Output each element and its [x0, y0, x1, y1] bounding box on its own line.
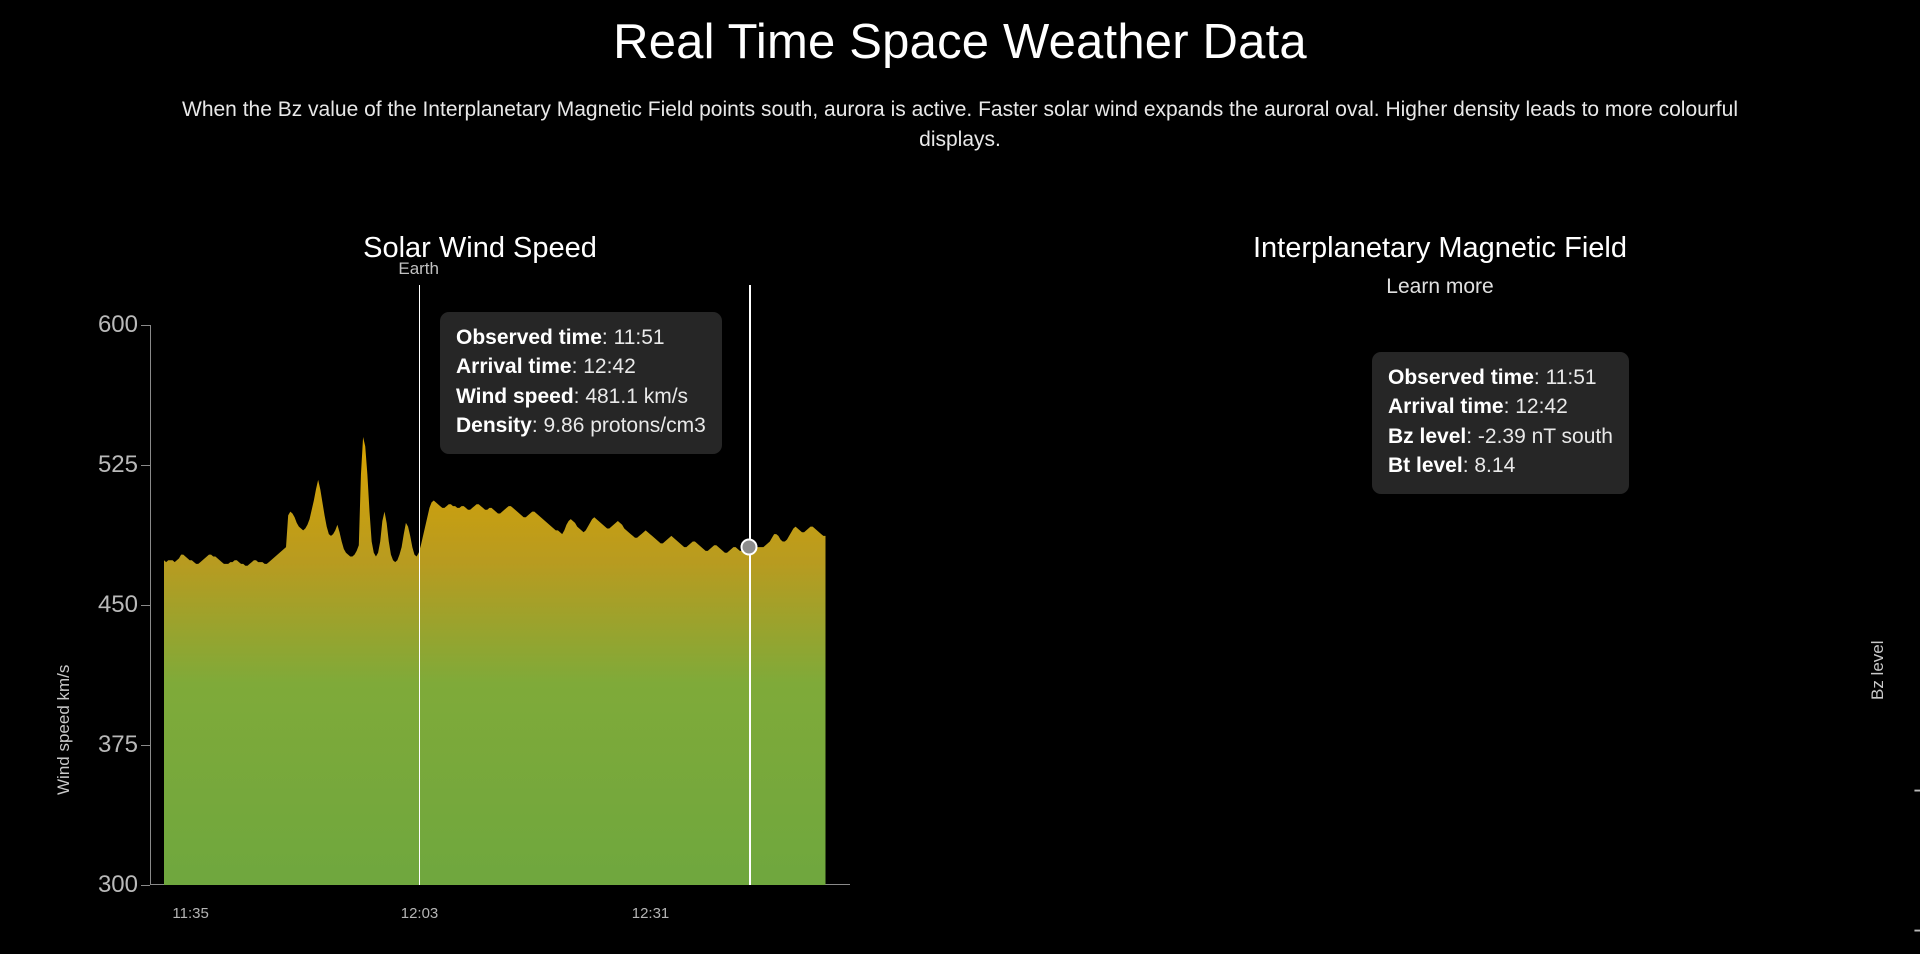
tooltip-observed-time-key: Observed time: [456, 326, 602, 349]
tooltip-density-key: Density: [456, 414, 532, 437]
solar-wind-x-tick: 11:35: [172, 905, 208, 922]
space-weather-dashboard: Real Time Space Weather Data When the Bz…: [0, 0, 1920, 954]
solar-wind-y-axis-label: Wind speed km/s: [54, 665, 74, 795]
imf-tooltip: Observed time: 11:51 Arrival time: 12:42…: [1372, 352, 1629, 494]
solar-wind-y-tick: 600: [98, 311, 150, 339]
solar-wind-tooltip: Observed time: 11:51 Arrival time: 12:42…: [440, 312, 722, 454]
solar-wind-x-tick: 12:31: [632, 905, 670, 922]
solar-wind-y-tick-dash: [141, 325, 150, 326]
imf-tooltip-observed-time-key: Observed time: [1388, 366, 1534, 389]
tooltip-wind-speed-key: Wind speed: [456, 385, 574, 408]
tooltip-observed-time-value: 11:51: [614, 326, 665, 349]
solar-wind-y-tick-dash: [141, 605, 150, 606]
solar-wind-y-tick: 300: [98, 871, 150, 899]
imf-tooltip-arrival-time-value: 12:42: [1515, 395, 1568, 418]
imf-tooltip-observed-time-row: Observed time: 11:51: [1388, 363, 1613, 392]
page-header: Real Time Space Weather Data When the Bz…: [0, 0, 1920, 154]
tooltip-arrival-time-value: 12:42: [583, 355, 636, 378]
solar-wind-y-tick: 450: [98, 591, 150, 619]
solar-wind-earth-label: Earth: [398, 259, 439, 279]
tooltip-observed-time-row: Observed time: 11:51: [456, 323, 706, 352]
imf-tooltip-bz-level-row: Bz level: -2.39 nT south: [1388, 422, 1613, 451]
imf-chart-title: Interplanetary Magnetic Field: [960, 230, 1920, 266]
charts-row: Solar Wind Speed Wind speed km/s 3003754…: [0, 230, 1920, 299]
tooltip-arrival-time-row: Arrival time: 12:42: [456, 352, 706, 381]
solar-wind-marker-line: [749, 285, 751, 885]
imf-tooltip-arrival-time-key: Arrival time: [1388, 395, 1504, 418]
tooltip-density-row: Density: 9.86 protons/cm3: [456, 411, 706, 440]
tooltip-wind-speed-value: 481.1 km/s: [585, 385, 688, 408]
page-title: Real Time Space Weather Data: [0, 14, 1920, 72]
imf-y-tick: -20: [1913, 916, 1920, 944]
imf-y-tick: -10: [1913, 776, 1920, 804]
solar-wind-chart-title: Solar Wind Speed: [0, 230, 960, 266]
imf-tooltip-observed-time-value: 11:51: [1546, 366, 1597, 389]
imf-tooltip-arrival-time-row: Arrival time: 12:42: [1388, 392, 1613, 421]
imf-y-axis-label: Bz level: [1868, 640, 1888, 700]
solar-wind-y-tick: 525: [98, 451, 150, 479]
imf-tooltip-bz-level-value: -2.39 nT south: [1478, 425, 1613, 448]
page-subtitle: When the Bz value of the Interplanetary …: [150, 95, 1770, 155]
solar-wind-y-tick-dash: [141, 745, 150, 746]
imf-tooltip-bt-level-value: 8.14: [1474, 454, 1515, 477]
solar-wind-speed-panel: Solar Wind Speed Wind speed km/s 3003754…: [0, 230, 960, 299]
tooltip-density-value: 9.86 protons/cm3: [544, 414, 706, 437]
solar-wind-area-path: [164, 437, 826, 885]
tooltip-wind-speed-row: Wind speed: 481.1 km/s: [456, 382, 706, 411]
imf-learn-more-link[interactable]: Learn more: [960, 275, 1920, 299]
solar-wind-selected-datapoint[interactable]: [741, 538, 758, 555]
imf-tooltip-bt-level-row: Bt level: 8.14: [1388, 451, 1613, 480]
solar-wind-y-tick-dash: [141, 885, 150, 886]
imf-tooltip-bz-level-key: Bz level: [1388, 425, 1466, 448]
solar-wind-marker-line: [419, 285, 421, 885]
imf-tooltip-bt-level-key: Bt level: [1388, 454, 1463, 477]
solar-wind-y-tick: 375: [98, 731, 150, 759]
imf-panel: Interplanetary Magnetic Field Learn more…: [960, 230, 1920, 299]
solar-wind-y-tick-dash: [141, 465, 150, 466]
solar-wind-x-tick: 12:03: [401, 905, 439, 922]
tooltip-arrival-time-key: Arrival time: [456, 355, 572, 378]
